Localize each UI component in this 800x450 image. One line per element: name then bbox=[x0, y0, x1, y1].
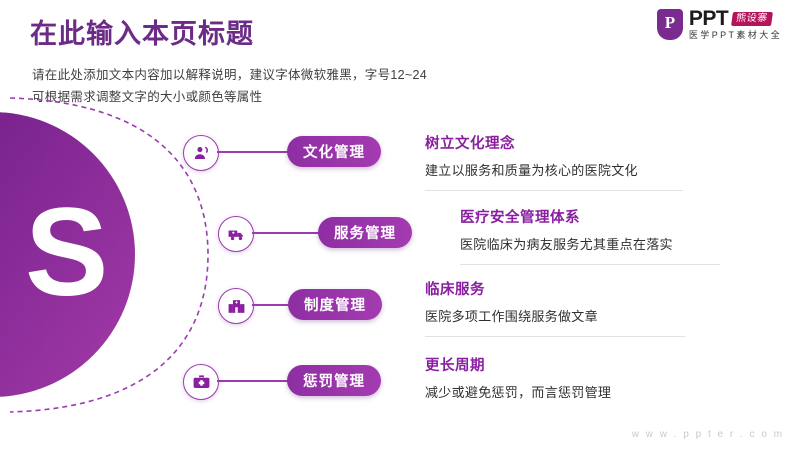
row-item-3: 制度管理 临床服务 医院多项工作围绕服务做文章 bbox=[0, 278, 800, 348]
divider-3 bbox=[425, 336, 685, 337]
pill-label-2[interactable]: 服务管理 bbox=[318, 217, 412, 248]
text-head-2: 医疗安全管理体系 bbox=[460, 206, 673, 227]
text-block-1: 树立文化理念 建立以服务和质量为核心的医院文化 bbox=[425, 132, 638, 179]
text-head-4: 更长周期 bbox=[425, 354, 611, 375]
row-item-2: 服务管理 医疗安全管理体系 医院临床为病友服务尤其重点在落实 bbox=[0, 206, 800, 276]
user-care-icon[interactable] bbox=[183, 135, 219, 171]
text-block-2: 医疗安全管理体系 医院临床为病友服务尤其重点在落实 bbox=[460, 206, 673, 253]
connector-line-3 bbox=[252, 304, 290, 306]
ambulance-icon[interactable] bbox=[218, 216, 254, 252]
text-head-1: 树立文化理念 bbox=[425, 132, 638, 153]
divider-2 bbox=[460, 264, 720, 265]
connector-line-2 bbox=[252, 232, 320, 234]
slide-canvas: 在此输入本页标题 请在此处添加文本内容加以解释说明，建议字体微软雅黑，字号12~… bbox=[0, 0, 800, 450]
text-desc-2: 医院临床为病友服务尤其重点在落实 bbox=[460, 234, 673, 253]
text-block-3: 临床服务 医院多项工作围绕服务做文章 bbox=[425, 278, 598, 325]
text-head-3: 临床服务 bbox=[425, 278, 598, 299]
subtitle-line-2: 可根据需求调整文字的大小或颜色等属性 bbox=[32, 86, 262, 105]
text-block-4: 更长周期 减少或避免惩罚，而言惩罚管理 bbox=[425, 354, 611, 401]
text-desc-4: 减少或避免惩罚，而言惩罚管理 bbox=[425, 382, 611, 401]
divider-1 bbox=[425, 190, 683, 191]
row-item-4: 惩罚管理 更长周期 减少或避免惩罚，而言惩罚管理 bbox=[0, 354, 800, 424]
logo-text-block: PPT 熊设寨 医学PPT素材大全 bbox=[689, 8, 782, 40]
logo-badge: 熊设寨 bbox=[731, 12, 772, 26]
logo-sub-text: 医学PPT素材大全 bbox=[689, 31, 782, 40]
page-title: 在此输入本页标题 bbox=[30, 20, 254, 50]
logo-main-text: PPT bbox=[689, 8, 728, 29]
row-item-1: 文化管理 树立文化理念 建立以服务和质量为核心的医院文化 bbox=[0, 128, 800, 198]
logo-top-row: PPT 熊设寨 bbox=[689, 8, 782, 29]
pill-label-3[interactable]: 制度管理 bbox=[288, 289, 382, 320]
shield-letter: P bbox=[665, 14, 675, 31]
shield-icon: P bbox=[657, 9, 683, 40]
subtitle-line-1: 请在此处添加文本内容加以解释说明，建议字体微软雅黑，字号12~24 bbox=[32, 64, 427, 83]
hospital-building-icon[interactable] bbox=[218, 288, 254, 324]
text-desc-3: 医院多项工作围绕服务做文章 bbox=[425, 306, 598, 325]
medical-bag-icon[interactable] bbox=[183, 364, 219, 400]
watermark: w w w . p p t e r . c o m bbox=[632, 429, 784, 440]
text-desc-1: 建立以服务和质量为核心的医院文化 bbox=[425, 160, 638, 179]
brand-logo: P PPT 熊设寨 医学PPT素材大全 bbox=[657, 8, 782, 40]
pill-label-1[interactable]: 文化管理 bbox=[287, 136, 381, 167]
connector-line-1 bbox=[217, 151, 289, 153]
pill-label-4[interactable]: 惩罚管理 bbox=[287, 365, 381, 396]
connector-line-4 bbox=[217, 380, 289, 382]
